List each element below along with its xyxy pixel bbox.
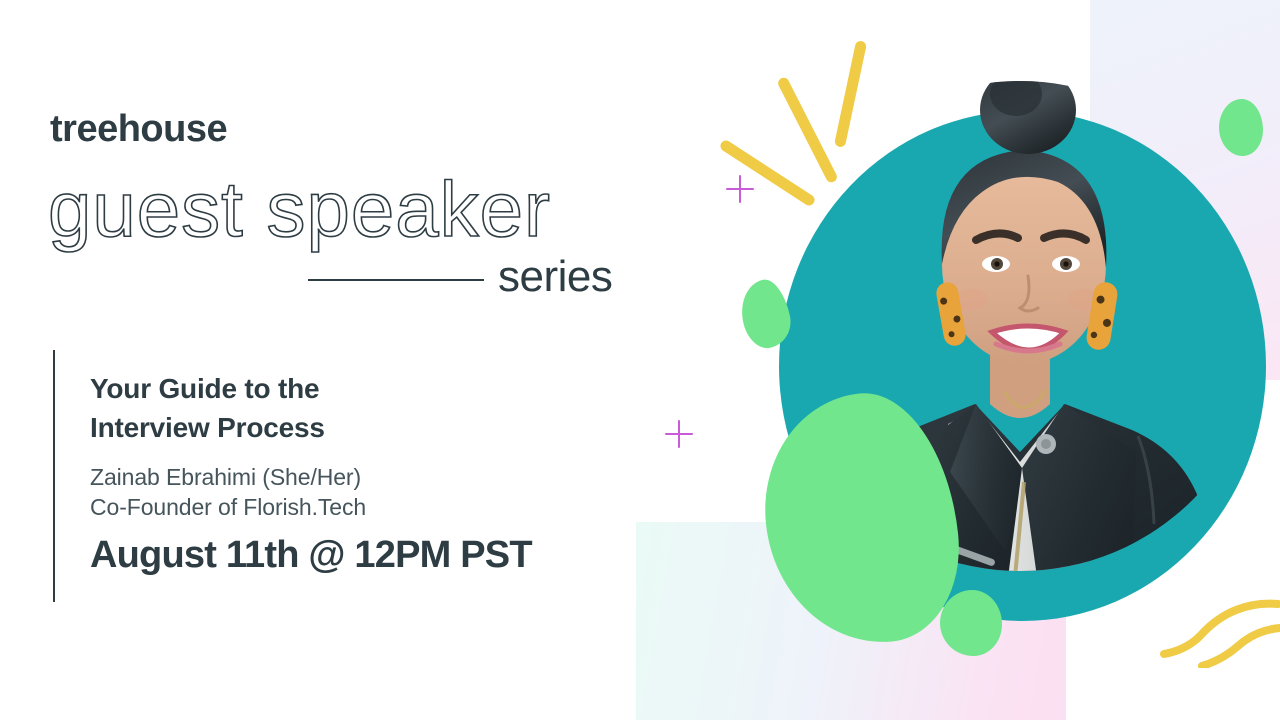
content-accent-rule [53,350,55,602]
green-blob-small [940,590,1002,656]
plus-mark-icon [665,420,693,448]
talk-title-line2: Interview Process [90,412,325,443]
talk-title: Your Guide to the Interview Process [90,370,510,447]
brand-wordmark: treehouse [50,110,227,148]
headline-guest-speaker: guest speaker [44,160,684,260]
series-divider-rule [308,279,484,281]
speaker-name: Zainab Ebrahimi (She/Her) [90,462,361,493]
talk-title-line1: Your Guide to the [90,373,319,404]
yellow-squiggle-icon [1160,588,1280,668]
event-datetime: August 11th @ 12PM PST [90,535,532,577]
series-label: series [498,255,612,299]
plus-mark-icon [726,175,754,203]
svg-text:guest speaker: guest speaker [48,165,551,253]
speaker-role: Co-Founder of Florish.Tech [90,492,366,523]
guest-speaker-promo-slide: treehouse guest speaker series Your Guid… [0,0,1280,720]
